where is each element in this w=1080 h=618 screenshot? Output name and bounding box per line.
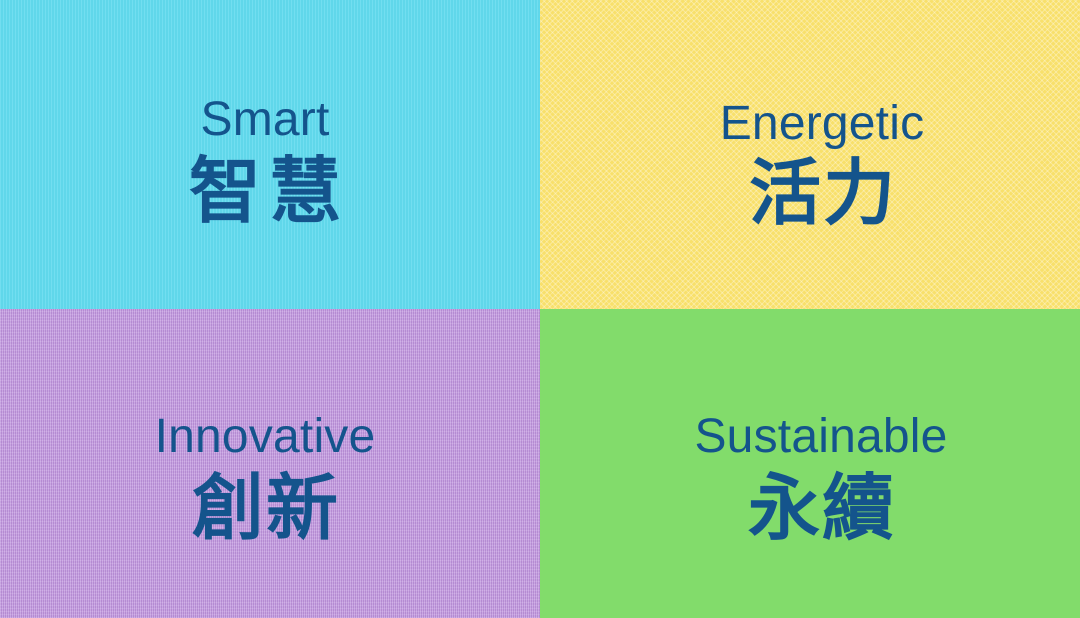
quadrant-sustainable: Sustainable 永續: [540, 309, 1080, 618]
quadrant-sustainable-latin-label: Sustainable: [694, 413, 947, 461]
label-stack-smart: Smart 智慧: [0, 0, 535, 228]
quadrant-innovative-cjk-label: 創新: [190, 473, 340, 545]
quadrant-innovative: Innovative 創新: [0, 309, 540, 618]
quadrant-sustainable-cjk-label: 永續: [746, 473, 896, 545]
quadrant-smart-cjk-label: 智慧: [181, 156, 349, 228]
quadrant-smart-latin-label: Smart: [200, 96, 329, 144]
brand-values-grid: Smart 智慧 Energetic 活力 Innovative 創新 Sust…: [0, 0, 1080, 618]
quadrant-energetic-cjk-label: 活力: [747, 158, 897, 230]
label-stack-innovative: Innovative 創新: [0, 309, 535, 545]
label-stack-energetic: Energetic 活力: [552, 0, 1080, 230]
quadrant-energetic-latin-label: Energetic: [720, 100, 925, 148]
label-stack-sustainable: Sustainable 永續: [551, 309, 1080, 545]
quadrant-energetic: Energetic 活力: [540, 0, 1080, 309]
quadrant-innovative-latin-label: Innovative: [155, 413, 376, 461]
quadrant-smart: Smart 智慧: [0, 0, 540, 309]
